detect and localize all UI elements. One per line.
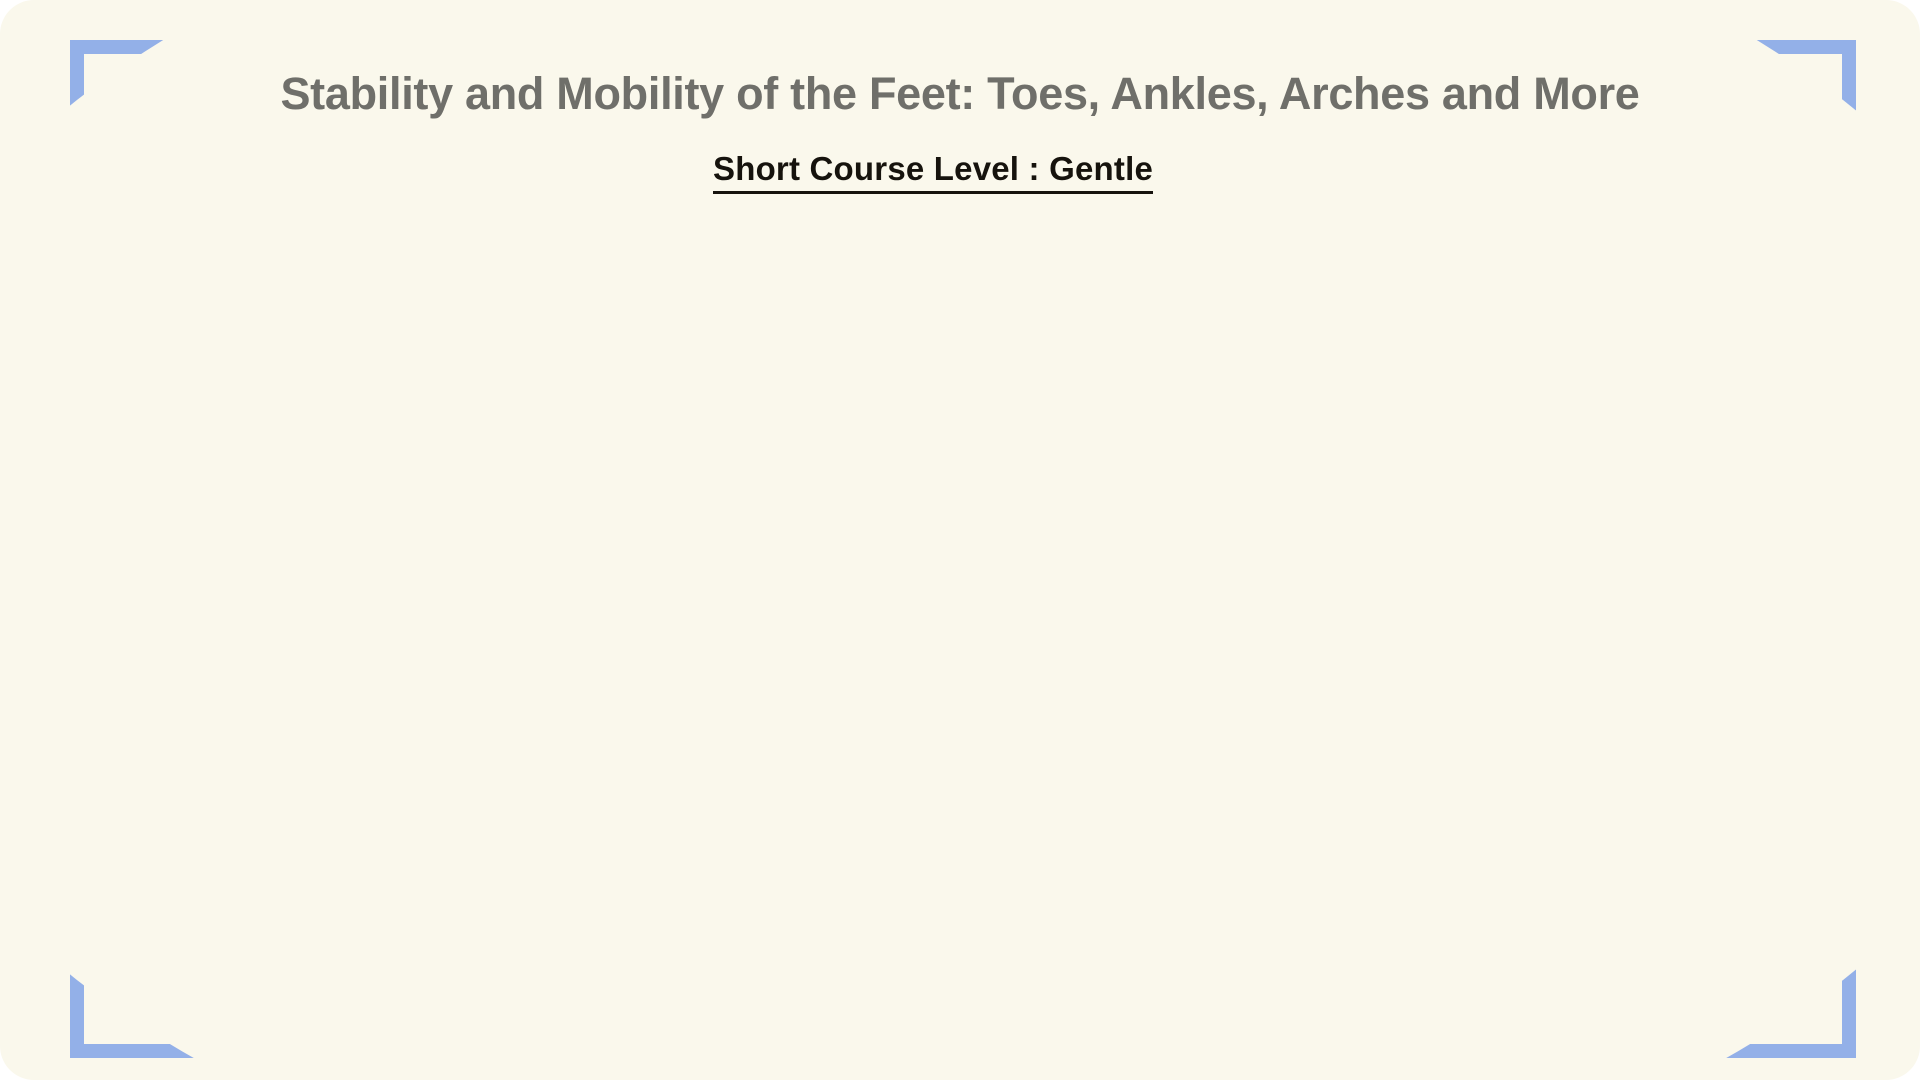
right-foot-shape <box>1226 718 1314 740</box>
sleeve-shape <box>1286 418 1338 484</box>
chair-back-left <box>1295 515 1347 672</box>
photo-supine-leg-cross <box>300 400 900 920</box>
hand-on-chair-shape <box>1300 580 1336 624</box>
left-hand-shape <box>350 523 424 598</box>
photo-ankle-practice-snack: e Snack ankles 0 mins <box>40 515 290 665</box>
hair-shape <box>366 715 461 800</box>
neck-shape <box>1238 396 1272 422</box>
practice-snack-card <box>40 521 162 615</box>
course-level-label: Short Course Level : Gentle <box>713 150 1153 194</box>
wall-shape <box>1030 460 1230 530</box>
raised-foot-shape <box>669 400 770 466</box>
left-hand-shape <box>1666 683 1736 747</box>
right-hand-shape <box>595 727 674 843</box>
course-level-row: Short Course Level : Gentle <box>0 150 1920 194</box>
shin-shape <box>604 452 738 658</box>
practice-snack-heading: e Snack <box>40 523 114 552</box>
pole-shape <box>305 464 715 574</box>
chair-leg-front-left <box>1313 668 1333 740</box>
left-leg-shape <box>1226 608 1268 734</box>
photo2-backdrop <box>300 400 900 920</box>
page-title: Stability and Mobility of the Feet: Toes… <box>0 68 1920 120</box>
left-arm-shape <box>302 547 421 743</box>
ankle-shape <box>180 521 272 665</box>
right-hand-shape <box>1788 705 1868 765</box>
yellow-folding-chair <box>1280 508 1490 738</box>
right-shin-shape <box>1816 585 1872 735</box>
heel-shape <box>214 617 286 665</box>
photo3-wash-overlay <box>1030 340 1540 740</box>
photo4-inner-border <box>1630 591 1920 765</box>
photo4-backdrop <box>1630 585 1920 765</box>
towel-shape <box>1116 610 1238 668</box>
blanket-stack-shape <box>1148 642 1298 710</box>
shorts-shape <box>571 724 710 847</box>
mat-edge-shape <box>479 508 900 603</box>
cork-block-shape <box>1170 690 1228 736</box>
photo4-caption: ts of the feet and ankles <box>1638 623 1780 637</box>
teal-shorts-shape <box>1212 528 1320 618</box>
course-banner: e Snack ankles 0 mins <box>0 0 1920 1080</box>
thigh-shape <box>541 566 707 815</box>
bar-shape <box>1648 700 1828 714</box>
left-foot-shape <box>1198 708 1280 736</box>
yoga-mat-shape <box>1140 706 1440 740</box>
chair-rung <box>1320 619 1382 643</box>
head-shape <box>1226 340 1288 402</box>
photo-hands-on-feet: ts of the feet and ankles <box>1630 585 1920 765</box>
chair-leg-front-right <box>1450 666 1472 740</box>
chair-leg-back-right <box>1420 668 1450 740</box>
practice-snack-line-2: 0 mins <box>40 587 81 605</box>
chair-seat <box>1314 654 1479 679</box>
photo-standing-with-chair <box>1030 340 1540 740</box>
head-shape <box>323 720 451 837</box>
bolster-shape <box>1030 605 1220 647</box>
toes-shape <box>86 609 172 655</box>
photo3-backdrop <box>1030 340 1540 740</box>
face-shape <box>1216 356 1246 400</box>
left-shin-shape <box>1696 585 1744 725</box>
right-leg-shape <box>1254 608 1296 738</box>
photo1-backdrop <box>40 515 290 665</box>
chair-back-right <box>1347 515 1399 672</box>
floor-shape <box>1030 678 1460 722</box>
red-shirt-shape <box>1208 406 1324 542</box>
photo4-wash-overlay <box>1630 585 1920 765</box>
chair-crossbar <box>1326 704 1446 734</box>
bar-shape-2 <box>1808 730 1920 746</box>
strap-shape <box>138 543 156 665</box>
tshirt-shape <box>340 628 695 872</box>
photo2-wash-overlay <box>300 400 900 920</box>
practice-snack-line-1: ankles <box>40 561 79 579</box>
arm-shape <box>1294 467 1333 599</box>
photo1-wash-overlay <box>40 515 290 665</box>
